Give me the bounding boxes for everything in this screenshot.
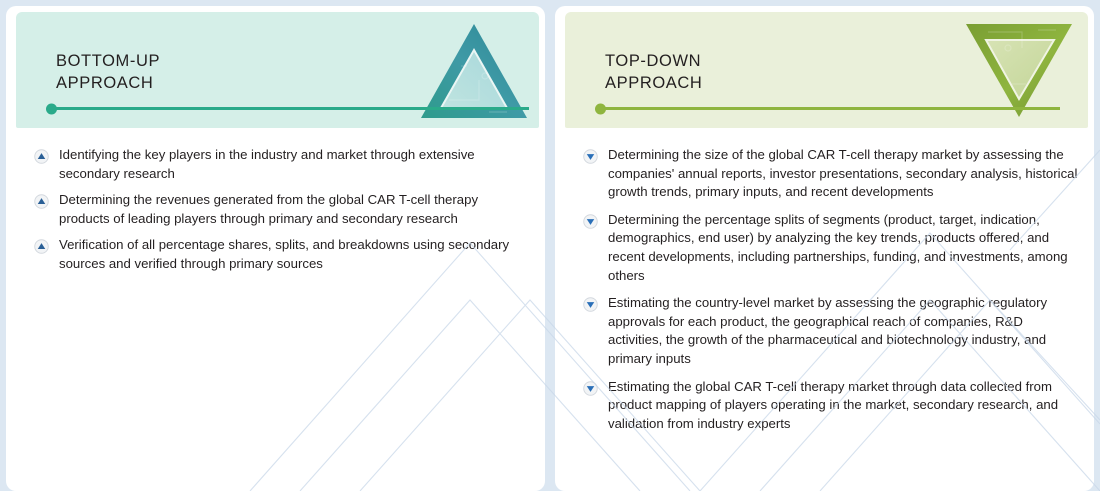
rule-dot bbox=[595, 103, 606, 114]
list-item: Determining the revenues generated from … bbox=[34, 191, 531, 228]
list-item-text: Determining the revenues generated from … bbox=[59, 191, 531, 228]
bottom-up-panel: BOTTOM-UP APPROACH Identifying the key p… bbox=[6, 6, 545, 491]
triangle-down-bullet-icon bbox=[583, 381, 598, 396]
list-item-text: Identifying the key players in the indus… bbox=[59, 146, 531, 183]
list-item: Estimating the global CAR T-cell therapy… bbox=[583, 378, 1080, 434]
rule-bar bbox=[51, 107, 529, 110]
triangle-up-bullet-icon bbox=[34, 149, 49, 164]
triangle-down-bullet-icon bbox=[583, 149, 598, 164]
triangle-down-bullet-icon bbox=[583, 297, 598, 312]
infographic-root: BOTTOM-UP APPROACH Identifying the key p… bbox=[0, 0, 1100, 491]
panels-container: BOTTOM-UP APPROACH Identifying the key p… bbox=[0, 0, 1100, 491]
rule-bar bbox=[600, 107, 1060, 110]
top-down-panel: TOP-DOWN APPROACH Determining the size o… bbox=[555, 6, 1094, 491]
list-item-text: Determining the percentage splits of seg… bbox=[608, 211, 1080, 285]
list-item: Determining the percentage splits of seg… bbox=[583, 211, 1080, 285]
list-item-text: Estimating the country-level market by a… bbox=[608, 294, 1080, 368]
triangle-down-bullet-icon bbox=[583, 214, 598, 229]
list-item-text: Verification of all percentage shares, s… bbox=[59, 236, 531, 273]
top-down-bullet-list: Determining the size of the global CAR T… bbox=[555, 128, 1094, 433]
triangle-up-bullet-icon bbox=[34, 239, 49, 254]
list-item: Determining the size of the global CAR T… bbox=[583, 146, 1080, 202]
rule-dot bbox=[46, 103, 57, 114]
top-down-title: TOP-DOWN APPROACH bbox=[605, 50, 702, 94]
list-item-text: Determining the size of the global CAR T… bbox=[608, 146, 1080, 202]
list-item: Estimating the country-level market by a… bbox=[583, 294, 1080, 368]
list-item: Identifying the key players in the indus… bbox=[34, 146, 531, 183]
list-item: Verification of all percentage shares, s… bbox=[34, 236, 531, 273]
list-item-text: Estimating the global CAR T-cell therapy… bbox=[608, 378, 1080, 434]
bottom-up-bullet-list: Identifying the key players in the indus… bbox=[6, 128, 545, 274]
top-down-banner: TOP-DOWN APPROACH bbox=[565, 12, 1088, 128]
triangle-up-bullet-icon bbox=[34, 194, 49, 209]
triangle-down-icon bbox=[964, 18, 1074, 120]
bottom-up-banner: BOTTOM-UP APPROACH bbox=[16, 12, 539, 128]
bottom-up-title: BOTTOM-UP APPROACH bbox=[56, 50, 160, 94]
